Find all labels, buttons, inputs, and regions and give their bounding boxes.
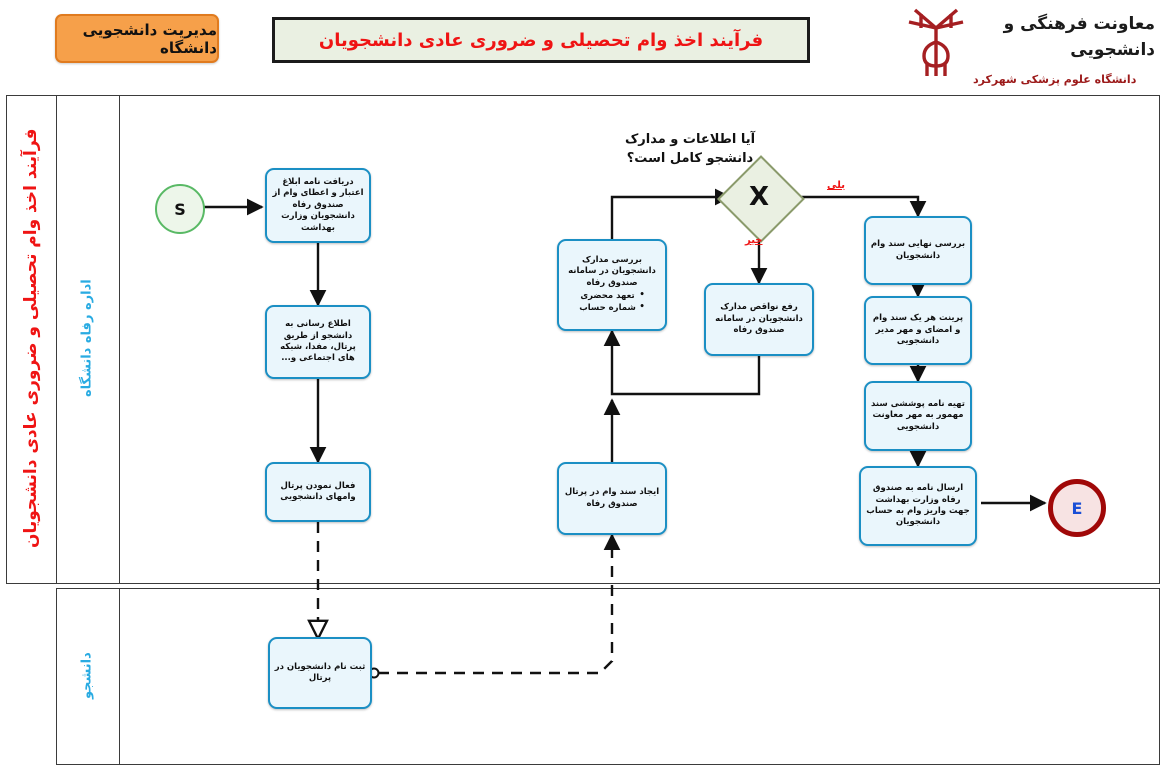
diagram-canvas: مدیریت دانشجویی دانشگاه فرآیند اخذ وام ت… <box>0 0 1165 768</box>
task-label: ثبت نام دانشجویان در پرتال <box>274 662 366 685</box>
gateway-question-line2: دانشجو کامل است؟ <box>627 151 753 166</box>
gateway-question-line1: آیا اطلاعات و مدارک <box>625 132 755 147</box>
org-badge: مدیریت دانشجویی دانشگاه <box>55 14 219 63</box>
pool-title-label: فرآیند اخذ وام تحصیلی و ضروری عادی دانشج… <box>6 95 56 582</box>
task-fix-deficiencies[interactable]: رفع نواقص مدارک دانشجویان در سامانه صندو… <box>704 283 814 356</box>
task-label: پرینت هر یک سند وام و امضای و مهر مدیر د… <box>870 313 966 347</box>
task-activate-portal[interactable]: فعال نمودن پرتال وامهای دانشجویی <box>265 462 371 522</box>
task-label: فعال نمودن پرتال وامهای دانشجویی <box>271 481 365 504</box>
bullet-item: تعهد محضری <box>579 291 645 303</box>
task-bullet-list: تعهد محضری شماره حساب <box>579 291 645 315</box>
lane-label-welfare: اداره رفاه دانشگاه <box>56 95 118 582</box>
logo-secondary-text: دانشگاه علوم پزشکی شهرکرد <box>973 73 1136 86</box>
task-send-to-fund[interactable]: ارسال نامه به صندوق رفاه وزارت بهداشت جه… <box>859 466 977 546</box>
task-label: بررسی نهایی سند وام دانشجویان <box>870 239 966 262</box>
task-receive-credit-letter[interactable]: دریافت نامه ابلاغ اعتبار و اعطای وام از … <box>265 168 371 243</box>
task-prepare-cover-letter[interactable]: تهیه نامه پوششی سند مهمور به مهر معاونت … <box>864 381 972 451</box>
end-event[interactable]: E <box>1048 479 1106 537</box>
university-logo: معاونت فرهنگی و دانشجویی دانشگاه علوم پز… <box>905 2 1155 86</box>
task-label: ارسال نامه به صندوق رفاه وزارت بهداشت جه… <box>865 483 971 529</box>
task-label: ایجاد سند وام در پرتال صندوق رفاه <box>563 487 661 510</box>
logo-primary-text: معاونت فرهنگی و دانشجویی <box>973 12 1155 63</box>
task-review-documents[interactable]: بررسی مدارک دانشجویان در سامانه صندوق رف… <box>557 239 667 331</box>
bullet-item: شماره حساب <box>579 303 645 315</box>
page-title: فرآیند اخذ وام تحصیلی و ضروری عادی دانشج… <box>272 17 810 63</box>
university-emblem-icon <box>905 2 967 80</box>
start-event[interactable]: S <box>155 184 205 234</box>
gateway-x-icon: X <box>730 168 788 226</box>
flow-label-no: خیر <box>745 235 763 246</box>
task-label: تهیه نامه پوششی سند مهمور به مهر معاونت … <box>870 399 966 433</box>
task-label: بررسی مدارک دانشجویان در سامانه صندوق رف… <box>563 255 661 289</box>
task-final-review[interactable]: بررسی نهایی سند وام دانشجویان <box>864 216 972 285</box>
lane-label-student: دانشجو <box>56 588 118 763</box>
gateway-question-label: آیا اطلاعات و مدارک دانشجو کامل است؟ <box>595 131 785 169</box>
pool-lane-student <box>56 588 1160 765</box>
task-create-loan-record[interactable]: ایجاد سند وام در پرتال صندوق رفاه <box>557 462 667 535</box>
task-notify-student[interactable]: اطلاع رسانی به دانشجو از طریق پرتال، مفد… <box>265 305 371 379</box>
task-label: دریافت نامه ابلاغ اعتبار و اعطای وام از … <box>271 177 365 234</box>
flow-label-yes: بلی <box>827 180 845 191</box>
task-label: رفع نواقص مدارک دانشجویان در سامانه صندو… <box>710 302 808 336</box>
task-print-and-sign[interactable]: پرینت هر یک سند وام و امضای و مهر مدیر د… <box>864 296 972 365</box>
task-student-registration[interactable]: ثبت نام دانشجویان در پرتال <box>268 637 372 709</box>
task-label: اطلاع رسانی به دانشجو از طریق پرتال، مفد… <box>271 319 365 365</box>
